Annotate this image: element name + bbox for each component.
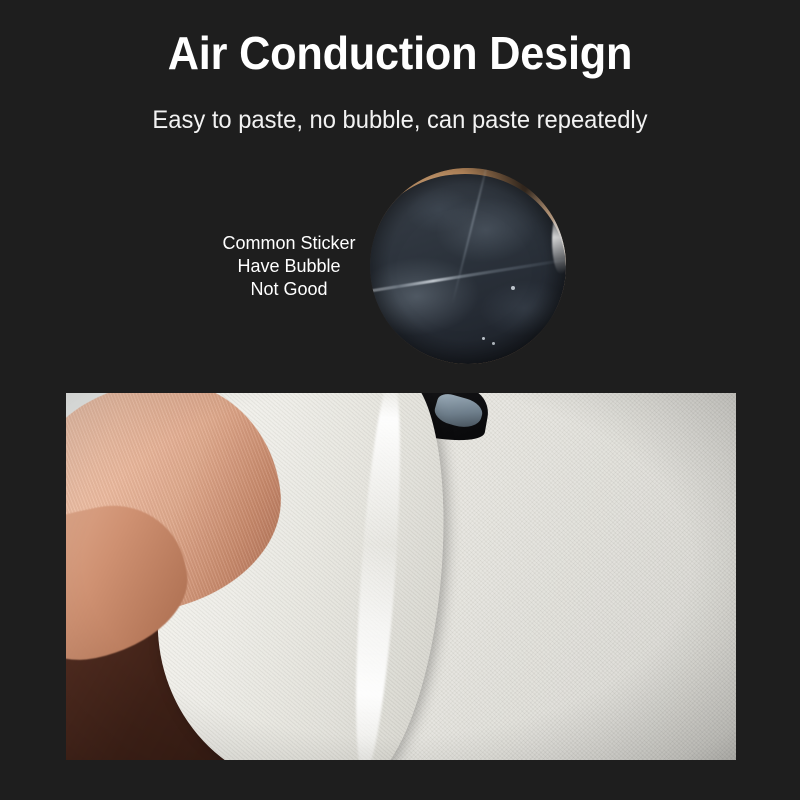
product-feature-banner: Air Conduction Design Easy to paste, no … <box>0 0 800 800</box>
air-conduction-sticker-image: bu <box>66 393 736 760</box>
page-title: Air Conduction Design <box>24 26 776 80</box>
annotation-line-1: Common Sticker <box>196 232 382 255</box>
closeup-vignette <box>370 168 566 364</box>
page-subtitle: Easy to paste, no bubble, can paste repe… <box>20 106 780 135</box>
annotation-line-2: Have Bubble <box>196 255 382 278</box>
common-sticker-closeup-image <box>370 168 566 364</box>
photo-vignette <box>66 393 736 760</box>
common-sticker-annotation: Common Sticker Have Bubble Not Good <box>196 232 382 301</box>
annotation-line-3: Not Good <box>196 278 382 301</box>
